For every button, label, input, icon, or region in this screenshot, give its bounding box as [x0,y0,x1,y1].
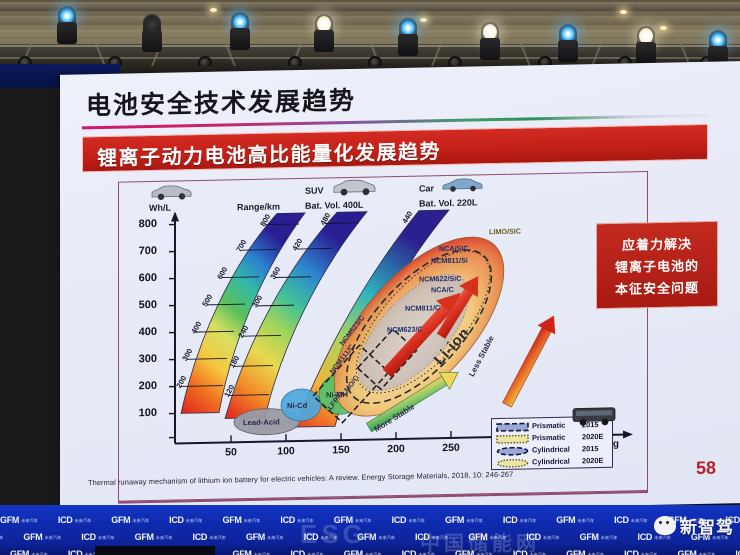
sponsor-logo: GFM未来汽车 [223,515,261,525]
screenshot-root: 电池安全技术发展趋势 锂离子动力电池高比能量化发展趋势 [0,0,740,555]
x-tick: 150 [326,444,356,457]
sponsor-logo: ICD未来汽车 [193,532,226,542]
chart-area: Wh/L Range/km SUV Bat. Vol. 400L Car [119,172,647,501]
bus-icon [571,405,617,433]
legend-label: Cylindrical [532,445,570,455]
chem-label: LIMO/SIC [489,227,521,237]
range-header-label: Range/km [237,201,280,212]
sponsor-logo: GFM未来汽车 [233,549,271,555]
y-tick: 200 [127,380,157,393]
suv-icon [331,177,377,201]
callout-box: 应着力解决 锂离子电池的 本征安全问题 [596,221,718,309]
legend-item: Cylindrical 2020E [496,456,612,469]
y-tick: 800 [127,218,157,231]
sponsor-logo: GFM未来汽车 [566,549,604,555]
sponsor-logo: ICD未来汽车 [81,532,114,542]
y-tick: 300 [127,353,157,366]
chem-label: NCA/C [431,285,454,294]
stage-light [312,14,336,54]
chem-label: NCM811/C [405,303,440,313]
sponsor-logo: GFM未来汽车 [10,549,48,555]
sponsor-logo: GFM未来汽车 [678,549,716,555]
prismatic-2015-key [496,422,529,432]
y-tick: 100 [127,407,157,420]
event-banner: GFM未来汽车ICD未来汽车GFM未来汽车ICD未来汽车GFM未来汽车ICD未来… [0,505,740,555]
sponsor-logo: ICD未来汽车 [58,515,91,525]
x-tick: 50 [216,446,246,459]
chem-label: NCA/SIC [439,244,469,254]
banner-shadow [95,546,215,555]
sponsor-logo: GFM未来汽车 [580,532,618,542]
stage-light [228,12,252,52]
stage-light [55,6,79,46]
stage-light [140,14,164,54]
account-name: 新智驾 [680,513,734,538]
y-tick: 600 [127,272,157,285]
sponsor-logo: ICD未来汽车 [392,515,425,525]
page-number: 58 [696,458,716,479]
callout-line-1: 应着力解决 [622,233,692,253]
callout-line-2: 锂离子电池的 [615,255,699,276]
watermark-cn: 中国储能网 [420,527,540,555]
x-tick: 250 [436,442,466,455]
wechat-icon [654,516,676,535]
legend-label: Cylindrical [532,457,570,467]
car-header-sub: Bat. Vol. 220L [419,197,477,208]
sponsor-logo: ICD未来汽车 [614,515,647,525]
y-tick: 700 [127,245,157,258]
legend-label: Prismatic [532,421,565,431]
y-tick: 500 [127,299,157,312]
legend-item: Prismatic 2020E [496,432,612,445]
sponsor-logo: GFM未来汽车 [246,532,284,542]
suv-header-label: SUV [305,186,324,196]
legend-label: Prismatic [532,433,565,443]
y-tick: 400 [127,326,157,339]
account-watermark: 新智驾 [654,513,734,538]
subtitle-band: 锂离子动力电池高比能量化发展趋势 [82,124,708,173]
stage-light [634,26,658,66]
bubble-label-lead-acid: Lead-Acid [243,417,280,427]
chem-label: NCM622/SiC [419,274,461,284]
callout-line-3: 本征安全问题 [615,277,699,298]
legend-year: 2015 [582,444,598,453]
x-tick: 100 [271,445,301,458]
watermark-esg: ESG [300,519,367,550]
sponsor-logo: GFM未来汽车 [0,515,38,525]
suv-header-sub: Bat. Vol. 400L [305,200,363,211]
legend-item: Cylindrical 2015 [496,444,612,457]
stage-light [478,22,502,62]
stage-light [396,18,420,58]
prismatic-2020e-key [496,434,529,444]
page-title: 电池安全技术发展趋势 [86,81,356,122]
cylindrical-2020e-key [496,458,529,468]
stage-light [556,24,580,64]
sponsor-logo: ICD未来汽车 [0,532,3,542]
chem-label: NCM623/C [387,325,423,335]
sponsor-logo: GFM未来汽车 [135,532,173,542]
x-tick: 200 [381,443,411,456]
sponsor-logo: ICD未来汽车 [503,515,536,525]
car-header-label: Car [419,183,434,193]
legend-year: 2020E [582,456,603,465]
sponsor-logo: ICD未来汽车 [624,549,657,555]
sponsor-logo: ICD未来汽车 [169,515,202,525]
sponsor-logo: GFM未来汽车 [23,532,61,542]
sponsor-logo: GFM未来汽车 [556,515,594,525]
legend-year: 2020E [582,432,603,441]
sponsor-logo: ICD未来汽车 [735,549,740,555]
bubble-label-ni-cd: Ni-Cd [287,401,307,410]
car-icon [441,177,483,198]
chem-label: NCM811/Si [431,256,468,266]
chart-figure: Wh/L Range/km SUV Bat. Vol. 400L Car [118,171,648,502]
subtitle-text: 锂离子动力电池高比能量化发展趋势 [97,135,441,171]
cylindrical-2015-key [496,446,529,456]
y-axis-unit-label: Wh/L [149,203,171,213]
sponsor-logo: GFM未来汽车 [111,515,149,525]
sponsor-logo: GFM未来汽车 [445,515,483,525]
